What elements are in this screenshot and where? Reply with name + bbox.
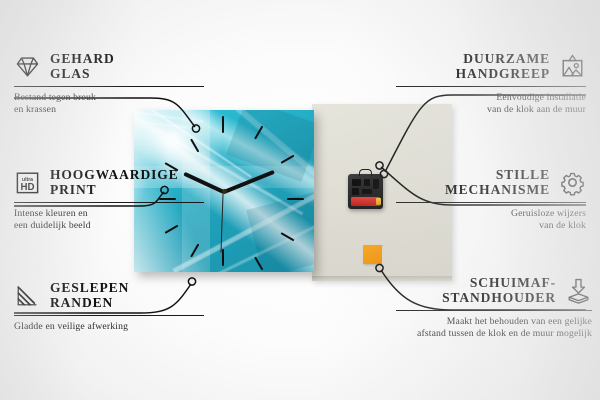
clock-mechanism	[348, 174, 383, 209]
feature-gehard-glas[interactable]: GEHARD GLAS Bestand tegen breuk en krass…	[14, 52, 204, 115]
clock-hand-second	[220, 191, 223, 253]
bevelled-edges-icon	[14, 282, 41, 309]
feature-header: SCHUIMAF- STANDHOUDER	[396, 276, 592, 305]
gear-icon	[559, 169, 586, 196]
feature-hoogwaardige-print[interactable]: ultra HD HOOGWAARDIGE PRINT Intense kleu…	[14, 168, 204, 231]
mechanism-battery	[351, 197, 380, 206]
feature-divider	[14, 315, 204, 316]
diamond-icon	[14, 53, 41, 80]
feature-subtitle: Intense kleuren en een duidelijk beeld	[14, 208, 204, 231]
feature-divider	[396, 202, 586, 203]
clock-hands-hub	[222, 189, 227, 194]
feature-header: GESLEPEN RANDEN	[14, 281, 204, 310]
feature-title: GESLEPEN RANDEN	[50, 281, 129, 310]
feature-schuimafstandhouder[interactable]: SCHUIMAF- STANDHOUDER Maakt het behouden…	[396, 276, 592, 339]
feature-subtitle: Maakt het behouden van een gelijke afsta…	[396, 316, 592, 339]
feature-subtitle: Eenvoudige installatie van de klok aan d…	[396, 92, 586, 115]
feature-header: STILLE MECHANISME	[396, 168, 586, 197]
feature-header: ultra HD HOOGWAARDIGE PRINT	[14, 168, 204, 197]
feature-geslepen-randen[interactable]: GESLEPEN RANDEN Gladde en veilige afwerk…	[14, 281, 204, 333]
feature-divider	[396, 86, 586, 87]
feature-divider	[396, 310, 592, 311]
mechanism-slot	[352, 188, 359, 195]
feature-subtitle: Bestand tegen breuk en krassen	[14, 92, 204, 115]
mechanism-slot	[362, 189, 372, 194]
ultra-hd-icon: ultra HD	[14, 169, 41, 196]
feature-title: HOOGWAARDIGE PRINT	[50, 168, 179, 197]
press-down-pad-icon	[565, 277, 592, 304]
infographic-canvas: GEHARD GLAS Bestand tegen breuk en krass…	[0, 0, 600, 400]
feature-title: STILLE MECHANISME	[445, 168, 550, 197]
feature-subtitle: Geruisloze wijzers van de klok	[396, 208, 586, 231]
feature-header: GEHARD GLAS	[14, 52, 204, 81]
mechanism-hanger-icon	[359, 169, 372, 176]
feature-divider	[14, 86, 204, 87]
picture-frame-icon	[559, 53, 586, 80]
svg-text:HD: HD	[21, 182, 35, 193]
foam-spacer-pad	[363, 245, 382, 264]
feature-stille-mechanisme[interactable]: STILLE MECHANISME Geruisloze wijzers van…	[396, 168, 586, 231]
feature-header: DUURZAME HANDGREEP	[396, 52, 586, 81]
mechanism-slot	[364, 179, 370, 186]
feature-subtitle: Gladde en veilige afwerking	[14, 321, 204, 332]
feature-divider	[14, 202, 204, 203]
feature-title: DUURZAME HANDGREEP	[456, 52, 550, 81]
mechanism-slot	[352, 179, 361, 186]
feature-title: GEHARD GLAS	[50, 52, 115, 81]
mechanism-slot	[373, 179, 379, 189]
feature-title: SCHUIMAF- STANDHOUDER	[442, 276, 556, 305]
clock-hand-minute	[223, 170, 274, 194]
feature-duurzame-handgreep[interactable]: DUURZAME HANDGREEP Eenvoudige installati…	[396, 52, 586, 115]
